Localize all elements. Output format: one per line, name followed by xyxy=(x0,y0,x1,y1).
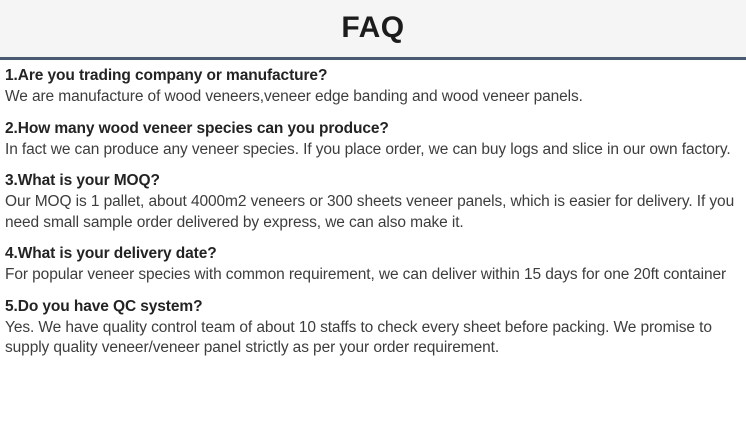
faq-answer: Yes. We have quality control team of abo… xyxy=(5,318,740,359)
faq-item: 3.What is your MOQ? Our MOQ is 1 pallet,… xyxy=(5,171,740,233)
faq-answer: We are manufacture of wood veneers,venee… xyxy=(5,87,740,108)
faq-list: 1.Are you trading company or manufacture… xyxy=(0,60,746,359)
faq-page: FAQ 1.Are you trading company or manufac… xyxy=(0,0,746,422)
faq-answer: In fact we can produce any veneer specie… xyxy=(5,140,740,161)
faq-question: 3.What is your MOQ? xyxy=(5,171,740,191)
faq-item: 2.How many wood veneer species can you p… xyxy=(5,119,740,161)
faq-question: 1.Are you trading company or manufacture… xyxy=(5,66,740,86)
faq-item: 4.What is your delivery date? For popula… xyxy=(5,244,740,286)
faq-header-bar: FAQ xyxy=(0,0,746,60)
faq-question: 2.How many wood veneer species can you p… xyxy=(5,119,740,139)
faq-item: 5.Do you have QC system? Yes. We have qu… xyxy=(5,297,740,359)
faq-answer: Our MOQ is 1 pallet, about 4000m2 veneer… xyxy=(5,192,740,233)
faq-answer: For popular veneer species with common r… xyxy=(5,265,740,286)
faq-question: 5.Do you have QC system? xyxy=(5,297,740,317)
page-title: FAQ xyxy=(341,13,404,43)
faq-question: 4.What is your delivery date? xyxy=(5,244,740,264)
faq-item: 1.Are you trading company or manufacture… xyxy=(5,66,740,108)
